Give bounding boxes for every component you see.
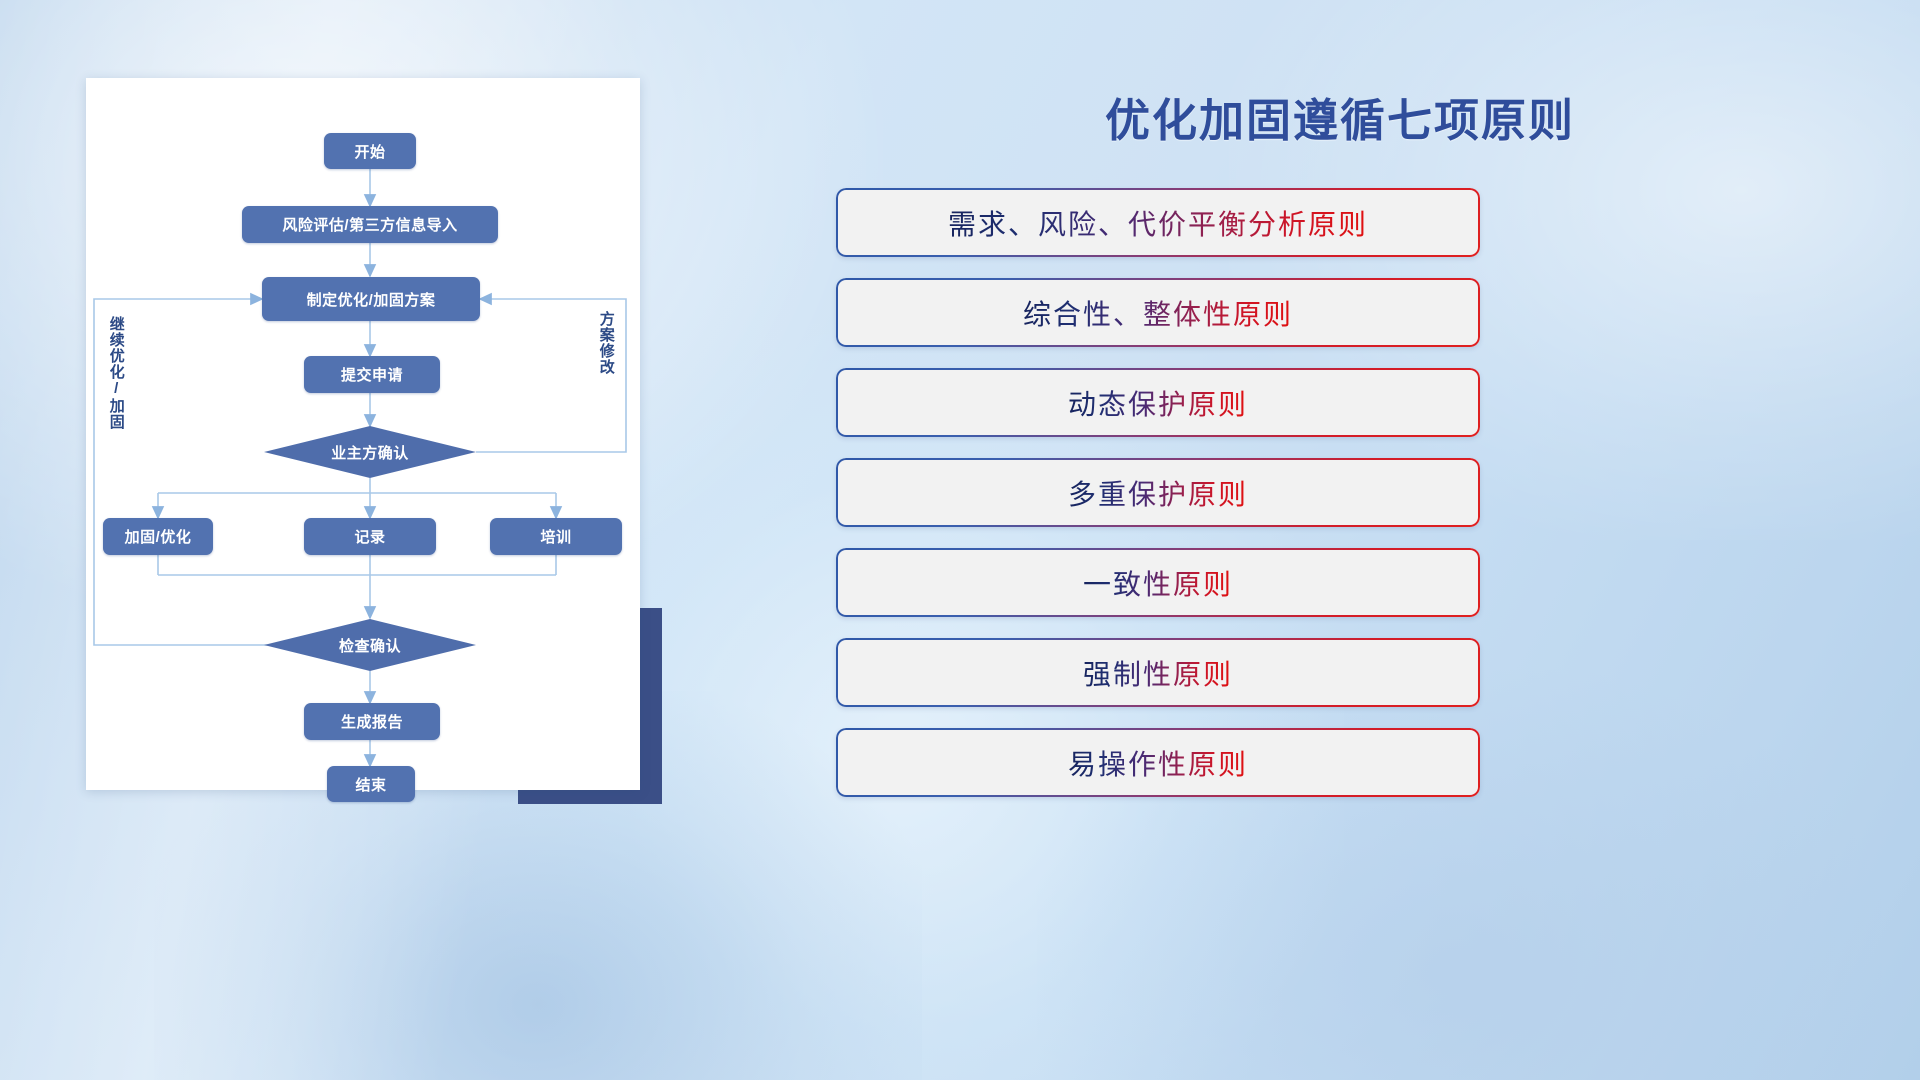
flowchart-card: 开始 风险评估/第三方信息导入 制定优化/加固方案 提交申请 业主方确认 加固/… [86,78,640,790]
principle-label: 综合性、整体性原则 [1023,293,1293,333]
principle-card-1[interactable]: 需求、风险、代价平衡分析原则 [836,188,1480,257]
flow-node-label: 结束 [355,774,386,795]
edge-label-plan-revision: 方案修改 [598,311,614,375]
principle-label: 多重保护原则 [1068,473,1248,513]
flow-node-label: 制定优化/加固方案 [307,289,436,310]
flowchart-stage: 开始 风险评估/第三方信息导入 制定优化/加固方案 提交申请 业主方确认 加固/… [86,78,640,790]
flow-node-label: 业主方确认 [264,426,476,478]
principle-label: 动态保护原则 [1068,383,1248,423]
flow-node-reinforce[interactable]: 加固/优化 [103,518,213,555]
flow-node-label: 开始 [354,141,385,162]
flow-node-label: 记录 [354,526,385,547]
flow-node-label: 提交申请 [341,364,403,385]
flow-node-submit-application[interactable]: 提交申请 [304,356,440,393]
flow-node-label: 培训 [540,526,571,547]
principle-label: 易操作性原则 [1068,743,1248,783]
flow-node-label: 生成报告 [341,711,403,732]
flow-node-start[interactable]: 开始 [324,133,416,169]
principle-card-5[interactable]: 一致性原则 [836,548,1480,617]
principle-card-7[interactable]: 易操作性原则 [836,728,1480,797]
principle-card-6[interactable]: 强制性原则 [836,638,1480,707]
page-title: 优化加固遵循七项原则 [760,84,1920,149]
principle-label: 一致性原则 [1083,563,1233,603]
flow-node-label: 风险评估/第三方信息导入 [282,214,457,235]
flow-node-training[interactable]: 培训 [490,518,622,555]
flow-node-owner-confirm[interactable]: 业主方确认 [264,426,476,478]
principle-label: 强制性原则 [1083,653,1233,693]
flow-node-record[interactable]: 记录 [304,518,436,555]
principle-card-2[interactable]: 综合性、整体性原则 [836,278,1480,347]
flow-node-end[interactable]: 结束 [327,766,415,802]
flow-node-risk-assessment[interactable]: 风险评估/第三方信息导入 [242,206,498,243]
flow-node-plan[interactable]: 制定优化/加固方案 [262,277,480,321]
flow-node-label: 加固/优化 [125,526,192,547]
principles-panel: 优化加固遵循七项原则 需求、风险、代价平衡分析原则 综合性、整体性原则 动态保护… [760,0,1920,1080]
principle-card-4[interactable]: 多重保护原则 [836,458,1480,527]
principles-list: 需求、风险、代价平衡分析原则 综合性、整体性原则 动态保护原则 多重保护原则 一… [836,188,1480,818]
flow-node-check-confirm[interactable]: 检查确认 [264,619,476,671]
principle-label: 需求、风险、代价平衡分析原则 [948,203,1368,243]
edge-label-continue-optimize: 继续优化/加固 [108,316,124,430]
flowchart-panel: 开始 风险评估/第三方信息导入 制定优化/加固方案 提交申请 业主方确认 加固/… [0,0,760,1080]
principle-card-3[interactable]: 动态保护原则 [836,368,1480,437]
flow-node-label: 检查确认 [264,619,476,671]
flow-node-generate-report[interactable]: 生成报告 [304,703,440,740]
